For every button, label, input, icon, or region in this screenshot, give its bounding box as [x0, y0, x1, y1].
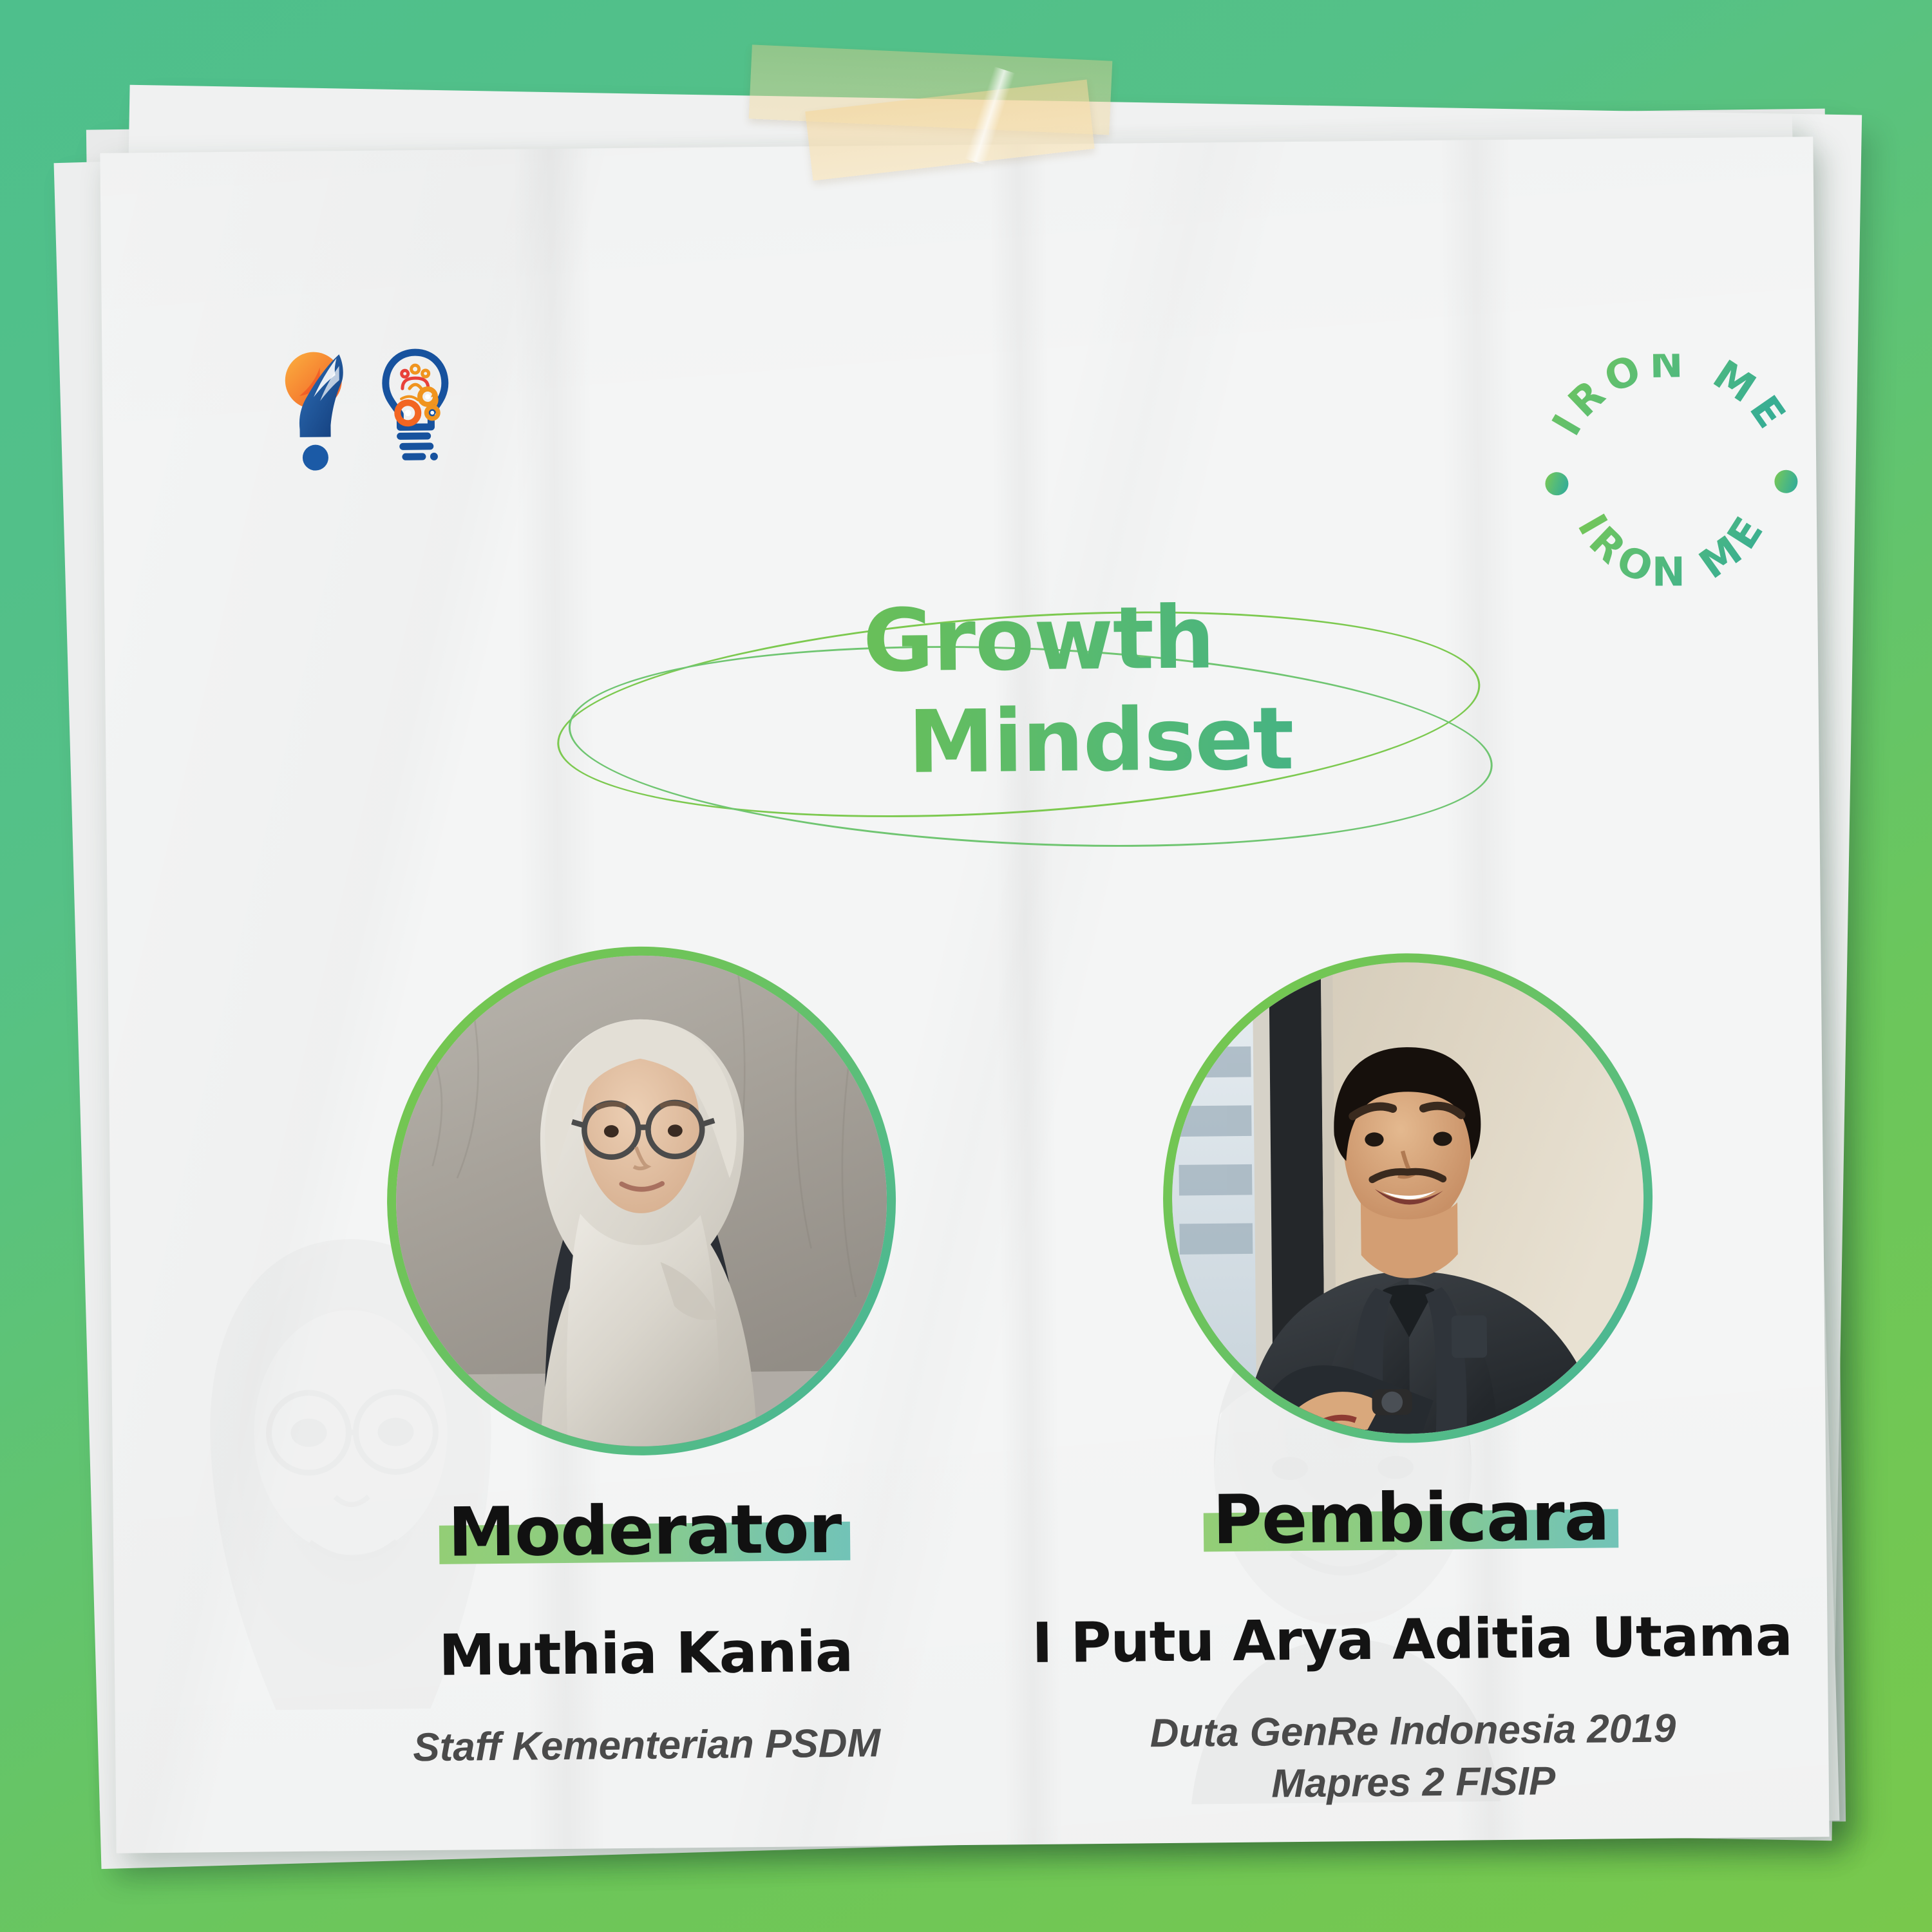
person-name-speaker: I Putu Arya Aditia Utama: [1032, 1604, 1792, 1676]
paper-sheet-front: IRON ME IRON ME Growth Mindset: [100, 137, 1829, 1853]
role-label-wrap-speaker: Pembicara: [1213, 1481, 1609, 1555]
person-titles-moderator: Staff Kementerian PSDM: [413, 1718, 881, 1774]
person-card-moderator: Moderator Muthia Kania Staff Kementerian…: [256, 943, 1030, 1819]
badge-bottom-text: IRON ME: [1568, 503, 1776, 596]
badge-top-text: IRON ME: [1542, 353, 1799, 444]
photo-ring-moderator: [384, 944, 898, 1458]
hand-flame-exclamation-icon: [277, 344, 359, 471]
person-title-line: Duta GenRe Indonesia 2019: [1150, 1703, 1676, 1759]
badge-dot-right: [1774, 470, 1797, 493]
badge-dot-left: [1545, 472, 1568, 495]
person-title-line: Mapres 2 FISIP: [1150, 1754, 1676, 1810]
iron-me-circular-badge: IRON ME IRON ME: [1542, 353, 1802, 613]
organization-logos: [277, 343, 452, 471]
speakers-section: Moderator Muthia Kania Staff Kementerian…: [256, 936, 1797, 1819]
role-label-speaker: Pembicara: [1213, 1481, 1609, 1555]
svg-text:IRON ME: IRON ME: [1568, 503, 1776, 596]
title-line-1: Growth: [555, 584, 1522, 696]
person-title-line: Staff Kementerian PSDM: [413, 1718, 881, 1774]
poster-title-block: Growth Mindset: [555, 584, 1524, 851]
photo-ring-speaker: [1160, 951, 1654, 1445]
person-name-moderator: Muthia Kania: [439, 1618, 853, 1689]
svg-text:IRON ME: IRON ME: [1542, 353, 1799, 444]
role-label-wrap-moderator: Moderator: [448, 1493, 842, 1568]
photo-speaker: [1170, 960, 1646, 1436]
lightbulb-gears-people-icon: [379, 343, 452, 470]
role-label-moderator: Moderator: [448, 1493, 842, 1568]
person-card-speaker: Pembicara I Putu Arya Aditia Utama Duta …: [1022, 936, 1797, 1812]
photo-moderator: [393, 953, 889, 1448]
person-titles-speaker: Duta GenRe Indonesia 2019 Mapres 2 FISIP: [1150, 1703, 1676, 1811]
poster-stage: IRON ME IRON ME Growth Mindset: [0, 0, 1932, 1932]
title-line-2: Mindset: [556, 686, 1522, 797]
page-title: Growth Mindset: [555, 584, 1523, 797]
